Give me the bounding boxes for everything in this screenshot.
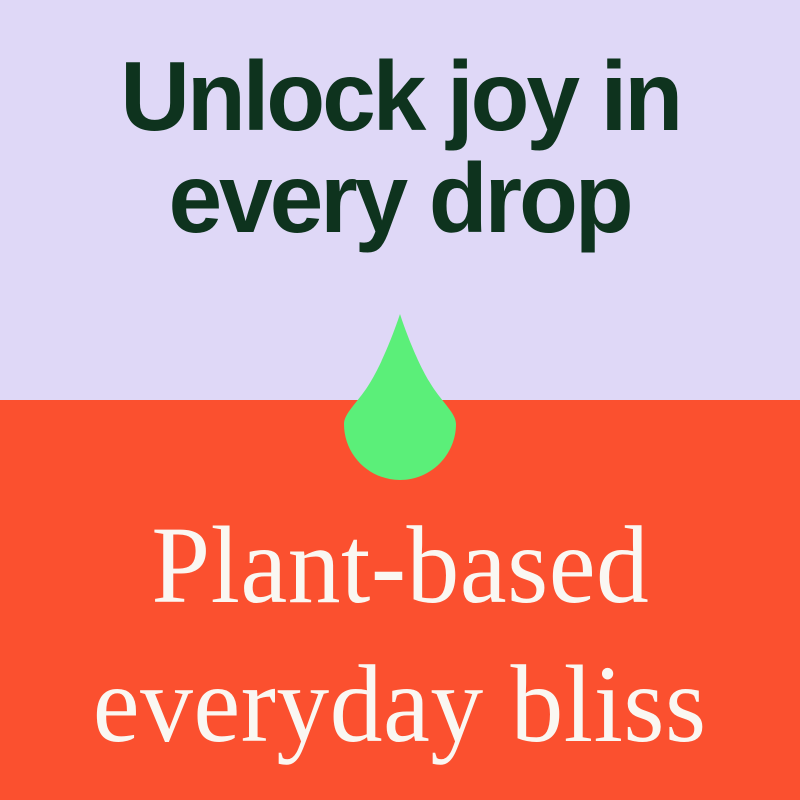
- water-droplet-icon: [344, 314, 456, 480]
- headline-line-2: every drop: [169, 148, 631, 250]
- subline-line-1: Plant-based: [151, 496, 649, 635]
- subline-block: Plant-based everyday bliss: [0, 496, 800, 786]
- headline-line-1: Unlock joy in: [120, 46, 680, 148]
- headline-block: Unlock joy in every drop: [0, 0, 800, 300]
- water-droplet-shape: [344, 314, 456, 480]
- promo-poster: Unlock joy in every drop Plant-based eve…: [0, 0, 800, 800]
- subline-line-2: everyday bliss: [93, 635, 707, 774]
